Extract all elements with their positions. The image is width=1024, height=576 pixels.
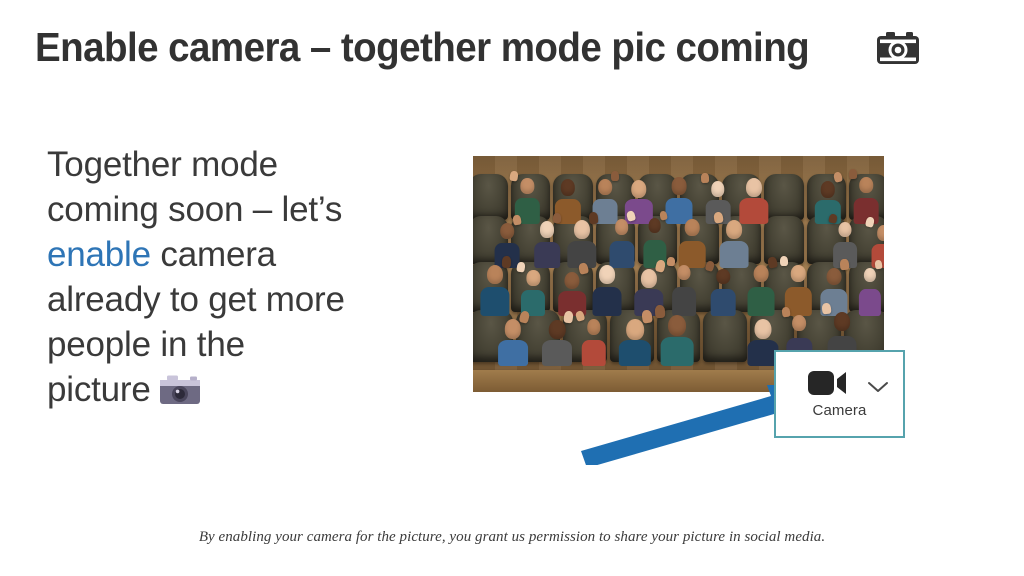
- participant: [608, 219, 634, 268]
- seat: [473, 174, 508, 220]
- camera-emoji-icon: [159, 372, 201, 404]
- participant-head: [487, 265, 503, 284]
- participant-head: [641, 269, 657, 288]
- seat: [703, 310, 747, 362]
- participant-head: [521, 178, 534, 194]
- participant-head: [599, 265, 615, 284]
- body-after-accent: camera: [151, 235, 276, 274]
- participant-torso: [859, 289, 881, 316]
- participant-head: [672, 177, 687, 194]
- participant-torso: [711, 289, 736, 316]
- participant: [660, 315, 694, 366]
- participant-head: [549, 320, 565, 339]
- participant: [592, 265, 623, 316]
- participant: [678, 219, 706, 268]
- participant: [558, 272, 587, 316]
- waving-hand: [700, 173, 708, 183]
- participant: [581, 319, 607, 366]
- waving-hand: [667, 257, 675, 267]
- waving-hand: [501, 256, 511, 268]
- footer-caption: By enabling your camera for the picture,…: [0, 529, 1024, 546]
- participant-head: [839, 222, 852, 237]
- waving-hand: [553, 213, 561, 223]
- participant-head: [648, 218, 661, 233]
- waving-hand: [849, 169, 857, 179]
- participant: [534, 221, 561, 268]
- waving-hand: [516, 262, 525, 273]
- participant: [542, 320, 574, 366]
- participant: [479, 265, 510, 316]
- participant-head: [827, 268, 842, 286]
- participant-torso: [609, 241, 634, 268]
- participant-torso: [619, 340, 651, 366]
- waving-hand: [578, 262, 589, 275]
- participant-head: [587, 319, 600, 335]
- body-accent-word: enable: [47, 235, 151, 274]
- participant-head: [754, 319, 771, 339]
- seat: [764, 174, 803, 220]
- participant-head: [574, 220, 590, 239]
- waving-hand: [781, 307, 790, 318]
- participant-torso: [581, 340, 606, 366]
- participant-torso: [739, 198, 768, 224]
- waving-hand: [611, 171, 619, 181]
- body-line-6: picture: [47, 370, 151, 409]
- body-line-5: people in the: [47, 325, 245, 364]
- waving-hand: [654, 305, 665, 318]
- waving-hand: [840, 259, 849, 270]
- waving-hand: [767, 256, 778, 268]
- camera-toggle-control[interactable]: Camera: [774, 350, 905, 438]
- participant-torso: [661, 337, 694, 366]
- body-line-1: Together mode: [47, 145, 278, 184]
- participant-torso: [534, 242, 560, 268]
- participant: [853, 177, 879, 224]
- participant: [566, 220, 597, 268]
- participant: [497, 319, 528, 366]
- waving-hand: [875, 260, 883, 270]
- participant-torso: [679, 241, 706, 268]
- participant-head: [527, 270, 540, 286]
- participant-torso: [748, 287, 775, 316]
- participant: [618, 319, 652, 366]
- participant-torso: [720, 241, 749, 268]
- participant-head: [793, 315, 807, 331]
- participant-torso: [542, 340, 572, 366]
- waving-hand: [588, 211, 598, 223]
- participant-head: [877, 225, 884, 241]
- participant: [719, 220, 749, 268]
- participant-torso: [672, 287, 696, 316]
- participant-head: [746, 178, 762, 197]
- participant-head: [565, 272, 580, 290]
- participant-torso: [593, 287, 622, 316]
- participant-head: [864, 268, 876, 282]
- participant-torso: [498, 340, 528, 366]
- participant-head: [615, 219, 629, 235]
- participant-head: [834, 312, 850, 331]
- participant-head: [560, 179, 574, 196]
- participant-head: [754, 265, 769, 282]
- participant-head: [505, 319, 521, 338]
- participant: [858, 268, 881, 316]
- camera-label: Camera: [776, 402, 903, 419]
- participant: [521, 270, 546, 316]
- camera-icon: [875, 29, 921, 67]
- participant-head: [500, 223, 514, 239]
- body-line-2: coming soon – let’s: [47, 190, 342, 229]
- video-camera-icon[interactable]: [808, 369, 848, 397]
- participant: [710, 269, 736, 316]
- participant-head: [726, 220, 742, 239]
- waving-hand: [512, 215, 521, 226]
- participant-head: [626, 319, 644, 340]
- participant: [665, 177, 693, 224]
- participant: [671, 265, 696, 316]
- participant: [747, 265, 775, 316]
- waving-hand: [780, 256, 789, 267]
- participant-torso: [480, 287, 509, 316]
- page-title: Enable camera – together mode pic coming: [35, 27, 921, 68]
- page-title-text: Enable camera – together mode pic coming: [35, 27, 809, 68]
- participant-head: [791, 265, 805, 282]
- participant-head: [631, 180, 646, 198]
- participant-head: [860, 177, 874, 193]
- participant-head: [677, 265, 690, 280]
- participant-head: [669, 315, 687, 336]
- body-line-4: already to get more: [47, 280, 345, 319]
- participant-head: [598, 179, 612, 195]
- participant-head: [685, 219, 700, 236]
- participant-head: [540, 221, 554, 238]
- chevron-down-icon[interactable]: [867, 380, 889, 394]
- participant-head: [821, 181, 835, 198]
- participant-head: [716, 269, 729, 285]
- participant: [738, 178, 769, 224]
- participant-head: [711, 181, 724, 197]
- body-paragraph: Together mode coming soon – let’s enable…: [47, 142, 442, 412]
